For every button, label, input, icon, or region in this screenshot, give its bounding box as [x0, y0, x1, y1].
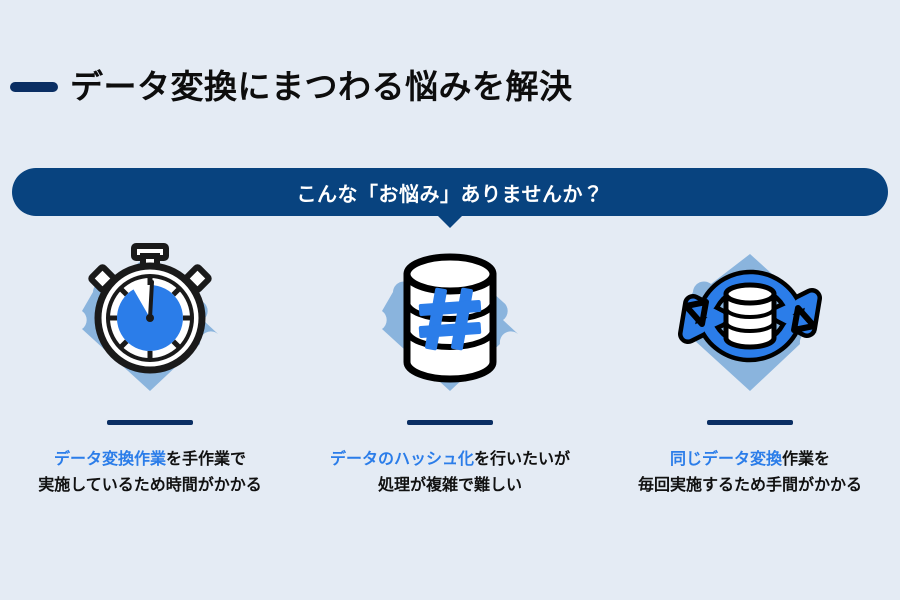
database-refresh-icon	[635, 240, 865, 405]
column-divider	[707, 420, 793, 425]
problem-caption-1: データ変換作業を手作業で 実施しているため時間がかかる	[38, 447, 262, 498]
problem-caption-2-line1: データのハッシュ化を行いたいが	[330, 447, 570, 473]
column-divider	[407, 420, 493, 425]
stopwatch-icon	[35, 240, 265, 405]
problem-caption-2: データのハッシュ化を行いたいが 処理が複雑で難しい	[330, 447, 570, 498]
problem-caption-1-line1: データ変換作業を手作業で	[38, 447, 262, 473]
problem-caption-3-rest: 作業を	[782, 451, 830, 468]
database-cylinder-shape	[407, 257, 493, 379]
problem-caption-1-line2: 実施しているため時間がかかる	[38, 473, 262, 499]
question-banner: こんな「お悩み」ありませんか？	[12, 168, 888, 216]
slide-root: データ変換にまつわる悩みを解決 こんな「お悩み」ありませんか？	[0, 0, 900, 600]
problem-caption-2-line2: 処理が複雑で難しい	[330, 473, 570, 499]
title-dash-icon	[10, 82, 58, 92]
problem-caption-1-highlight: データ変換作業	[54, 451, 166, 468]
page-title-text: データ変換にまつわる悩みを解決	[70, 70, 573, 103]
problem-caption-3-line2: 毎回実施するため手間がかかる	[638, 473, 862, 499]
inner-database-shape	[726, 285, 774, 347]
problem-caption-3-line1: 同じデータ変換作業を	[638, 447, 862, 473]
page-title: データ変換にまつわる悩みを解決	[10, 70, 573, 103]
database-hash-icon	[335, 240, 565, 405]
stopwatch-shape	[90, 246, 209, 370]
triangle-down-icon	[437, 215, 463, 228]
problem-column-1: データ変換作業を手作業で 実施しているため時間がかかる	[0, 240, 300, 498]
column-divider	[107, 420, 193, 425]
problem-caption-3: 同じデータ変換作業を 毎回実施するため手間がかかる	[638, 447, 862, 498]
problem-column-2: データのハッシュ化を行いたいが 処理が複雑で難しい	[300, 240, 600, 498]
problem-caption-2-highlight: データのハッシュ化	[330, 451, 474, 468]
problem-caption-3-highlight: 同じデータ変換	[670, 451, 782, 468]
problem-caption-2-rest: を行いたいが	[474, 451, 570, 468]
question-banner-text: こんな「お悩み」ありませんか？	[297, 178, 604, 207]
problem-columns: データ変換作業を手作業で 実施しているため時間がかかる	[0, 240, 900, 498]
problem-caption-1-rest: を手作業で	[166, 451, 246, 468]
problem-column-3: 同じデータ変換作業を 毎回実施するため手間がかかる	[600, 240, 900, 498]
